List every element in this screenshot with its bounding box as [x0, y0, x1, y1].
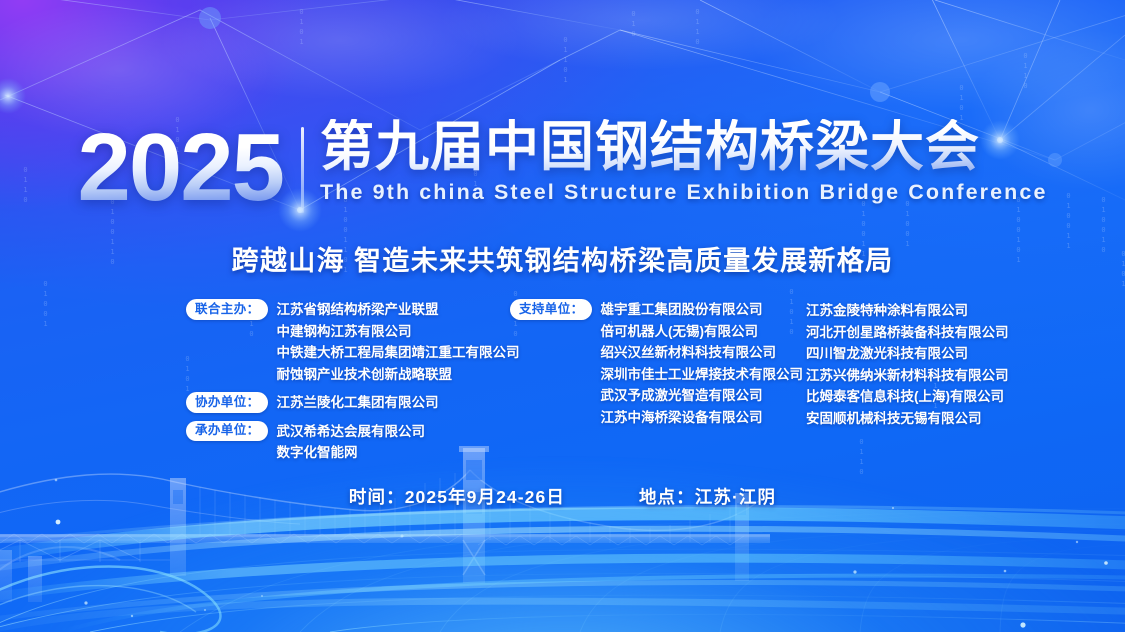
list-item: 武汉希希达会展有限公司: [277, 421, 426, 443]
list-item: 江苏兴佛纳米新材料科技有限公司: [806, 365, 1106, 387]
badge-co-organizer: 协办单位：: [186, 392, 268, 413]
date-label: 时间：: [349, 484, 405, 509]
headline-block: 2025 第九届中国钢结构桥梁大会 The 9th china Steel St…: [0, 119, 1125, 223]
perspective-grid: [0, 508, 1125, 632]
list-item: 武汉予成激光智造有限公司: [601, 385, 804, 407]
list-item: 深圳市佳士工业焊接技术有限公司: [601, 364, 804, 386]
list-item: 绍兴汉丝新材料科技有限公司: [601, 342, 804, 364]
supporters-column-middle: 支持单位： 雄宇重工集团股份有限公司 倍可机器人(无锡)有限公司 绍兴汉丝新材料…: [510, 299, 800, 428]
list-item: 数字化智能网: [277, 442, 426, 464]
badge-co-host: 联合主办：: [186, 299, 268, 320]
list-item: 耐蚀钢产业技术创新战略联盟: [277, 364, 520, 386]
year-2025: 2025: [77, 119, 283, 213]
list-item: 江苏中海桥梁设备有限公司: [601, 407, 804, 429]
list-item: 河北开创星路桥装备科技有限公司: [806, 322, 1106, 344]
badge-undertaker: 承办单位：: [186, 421, 268, 442]
conference-banner: 01001 0100110 0101 01001101 0110 0101 01…: [0, 0, 1125, 632]
date-value: 2025年9月24-26日: [405, 484, 565, 509]
conference-tagline: 跨越山海 智造未来共筑钢结构桥梁高质量发展新格局: [0, 239, 1125, 278]
bridge-silhouette: [0, 446, 770, 602]
light-streaks: [0, 507, 1125, 632]
list-item: 江苏省钢结构桥梁产业联盟: [277, 299, 520, 321]
organizers-column-left: 联合主办： 江苏省钢结构桥梁产业联盟 中建钢构江苏有限公司 中铁建大桥工程局集团…: [186, 299, 506, 464]
org-group-co-organizer: 协办单位： 江苏兰陵化工集团有限公司: [186, 392, 506, 414]
location-value: 江苏·江阴: [695, 484, 776, 509]
list-item: 倍可机器人(无锡)有限公司: [601, 321, 804, 343]
organizations-section: 联合主办： 江苏省钢结构桥梁产业联盟 中建钢构江苏有限公司 中铁建大桥工程局集团…: [0, 299, 1125, 449]
undertaker-list: 武汉希希达会展有限公司 数字化智能网: [277, 421, 426, 464]
list-item: 雄宇重工集团股份有限公司: [601, 299, 804, 321]
event-meta: 时间： 2025年9月24-26日 地点： 江苏·江阴: [0, 484, 1125, 509]
list-item: 中铁建大桥工程局集团靖江重工有限公司: [277, 342, 520, 364]
org-group-co-host: 联合主办： 江苏省钢结构桥梁产业联盟 中建钢构江苏有限公司 中铁建大桥工程局集团…: [186, 299, 506, 385]
list-item: 江苏金陵特种涂料有限公司: [806, 300, 1106, 322]
co-organizer-list: 江苏兰陵化工集团有限公司: [277, 392, 439, 414]
list-item: 安固顺机械科技无锡有限公司: [806, 408, 1106, 430]
conference-title-en: The 9th china Steel Structure Exhibition…: [320, 180, 1047, 205]
badge-supporters: 支持单位：: [510, 299, 592, 320]
list-item: 中建钢构江苏有限公司: [277, 321, 520, 343]
conference-title-cn: 第九届中国钢结构桥梁大会: [320, 119, 1047, 176]
title-divider: [301, 127, 304, 213]
org-group-undertaker: 承办单位： 武汉希希达会展有限公司 数字化智能网: [186, 421, 506, 464]
org-group-supporters: 支持单位： 雄宇重工集团股份有限公司 倍可机器人(无锡)有限公司 绍兴汉丝新材料…: [510, 299, 800, 428]
list-item: 江苏兰陵化工集团有限公司: [277, 392, 439, 414]
supporters-list-continued: 江苏金陵特种涂料有限公司 河北开创星路桥装备科技有限公司 四川智龙激光科技有限公…: [806, 300, 1106, 429]
supporters-list: 雄宇重工集团股份有限公司 倍可机器人(无锡)有限公司 绍兴汉丝新材料科技有限公司…: [601, 299, 804, 428]
location-label: 地点：: [639, 484, 695, 509]
title-group: 第九届中国钢结构桥梁大会 The 9th china Steel Structu…: [320, 119, 1047, 205]
co-host-list: 江苏省钢结构桥梁产业联盟 中建钢构江苏有限公司 中铁建大桥工程局集团靖江重工有限…: [277, 299, 520, 385]
supporters-column-right: 江苏金陵特种涂料有限公司 河北开创星路桥装备科技有限公司 四川智龙激光科技有限公…: [806, 299, 1106, 429]
list-item: 比姆泰客信息科技(上海)有限公司: [806, 386, 1106, 408]
list-item: 四川智龙激光科技有限公司: [806, 343, 1106, 365]
